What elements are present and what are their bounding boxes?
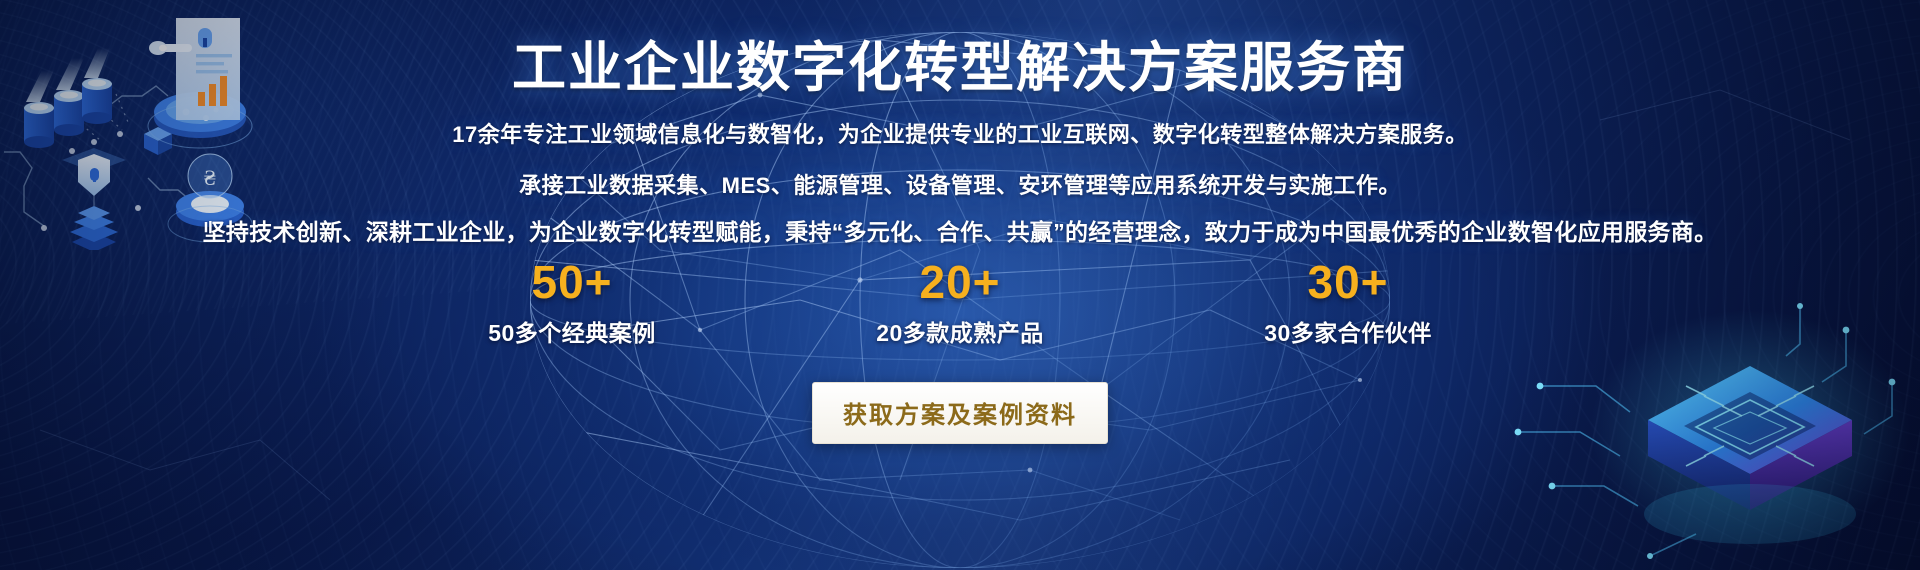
stat-item-cases: 50+ 50多个经典案例: [467, 258, 677, 348]
cta-container: 获取方案及案例资料: [0, 382, 1920, 444]
stat-item-products: 20+ 20多款成熟产品: [855, 258, 1065, 348]
banner-subtitle-3: 坚持技术创新、深耕工业企业，为企业数字化转型赋能，秉持“多元化、合作、共赢”的经…: [0, 213, 1920, 247]
banner-subtitle-1: 17余年专注工业领域信息化与数智化，为企业提供专业的工业互联网、数字化转型整体解…: [0, 117, 1920, 149]
get-solution-button[interactable]: 获取方案及案例资料: [812, 382, 1108, 444]
stat-number: 50+: [467, 258, 677, 306]
stat-number: 20+: [855, 258, 1065, 306]
stat-label: 30多家合作伙伴: [1243, 314, 1453, 348]
banner-content: 工业企业数字化转型解决方案服务商 17余年专注工业领域信息化与数智化，为企业提供…: [0, 0, 1920, 570]
banner-subtitle-2: 承接工业数据采集、MES、能源管理、设备管理、安环管理等应用系统开发与实施工作。: [0, 168, 1920, 200]
hero-banner: ₴: [0, 0, 1920, 570]
stat-label: 20多款成熟产品: [855, 314, 1065, 348]
stats-group: 50+ 50多个经典案例 20+ 20多款成熟产品 30+ 30多家合作伙伴: [0, 258, 1920, 348]
page-title: 工业企业数字化转型解决方案服务商: [0, 38, 1920, 98]
stat-label: 50多个经典案例: [467, 314, 677, 348]
stat-number: 30+: [1243, 258, 1453, 306]
stat-item-partners: 30+ 30多家合作伙伴: [1243, 258, 1453, 348]
